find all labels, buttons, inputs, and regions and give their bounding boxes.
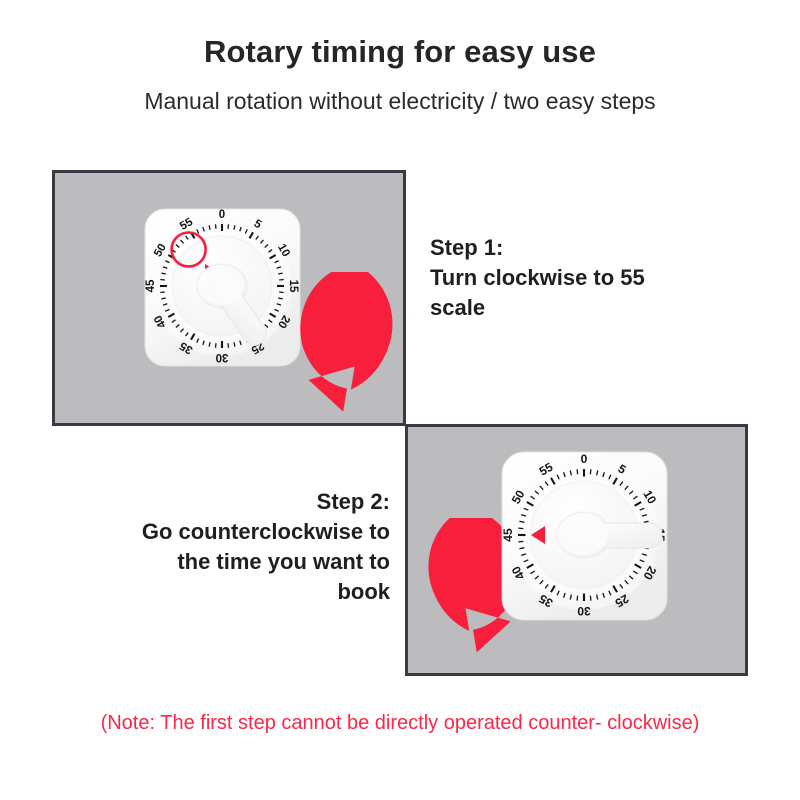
dial-tick-minor (278, 273, 282, 274)
dial-number-45: 45 (501, 528, 515, 542)
dial-tick-minor (209, 225, 210, 229)
dial-tick-minor (209, 342, 210, 346)
dial-number-0: 0 (219, 209, 225, 221)
step-2-line-4: book (40, 577, 390, 607)
dial-tick-minor (590, 469, 591, 474)
note-line-2: clockwise) (607, 712, 699, 734)
step-2-caption: Step 2: Go counterclockwise to the time … (40, 487, 390, 607)
dial-tick-minor (234, 225, 235, 229)
step-2-line-1: Step 2: (40, 487, 390, 517)
dial-number-0: 0 (581, 452, 588, 466)
step-1-line-3: scale (430, 293, 750, 323)
dial-tick-minor (577, 596, 578, 601)
clockwise-arrow-step-1 (295, 272, 405, 417)
step-1-caption: Step 1: Turn clockwise to 55 scale (430, 233, 750, 323)
step-2-line-3: the time you want to (40, 547, 390, 577)
dial-number-45: 45 (145, 279, 157, 292)
step-1-line-1: Step 1: (430, 233, 750, 263)
step-2-line-2: Go counterclockwise to (40, 517, 390, 547)
step-1-line-2: Turn clockwise to 55 (430, 263, 750, 293)
note-line-1: (Note: The first step cannot be directly… (101, 712, 602, 734)
dial-tick-minor (161, 298, 165, 299)
dial-tick-minor (590, 596, 591, 601)
dial-tick-minor (278, 298, 282, 299)
page-subtitle: Manual rotation without electricity / tw… (0, 88, 800, 115)
dial-number-30: 30 (216, 351, 229, 363)
infographic-page: Rotary timing for easy use Manual rotati… (0, 0, 800, 800)
dial-number-30: 30 (577, 604, 591, 618)
page-title: Rotary timing for easy use (0, 34, 800, 70)
dial-tick-minor (161, 273, 165, 274)
dial-tick-minor (518, 528, 523, 529)
dial-tick-minor (518, 541, 523, 542)
note-text: (Note: The first step cannot be directly… (60, 709, 740, 738)
timer-device-step-1[interactable]: 0510152025303540455055 (143, 207, 303, 371)
dial-tick-minor (577, 469, 578, 474)
timer-device-step-2[interactable]: 0510152025303540455055 (500, 450, 670, 623)
dial-tick-minor (234, 342, 235, 346)
